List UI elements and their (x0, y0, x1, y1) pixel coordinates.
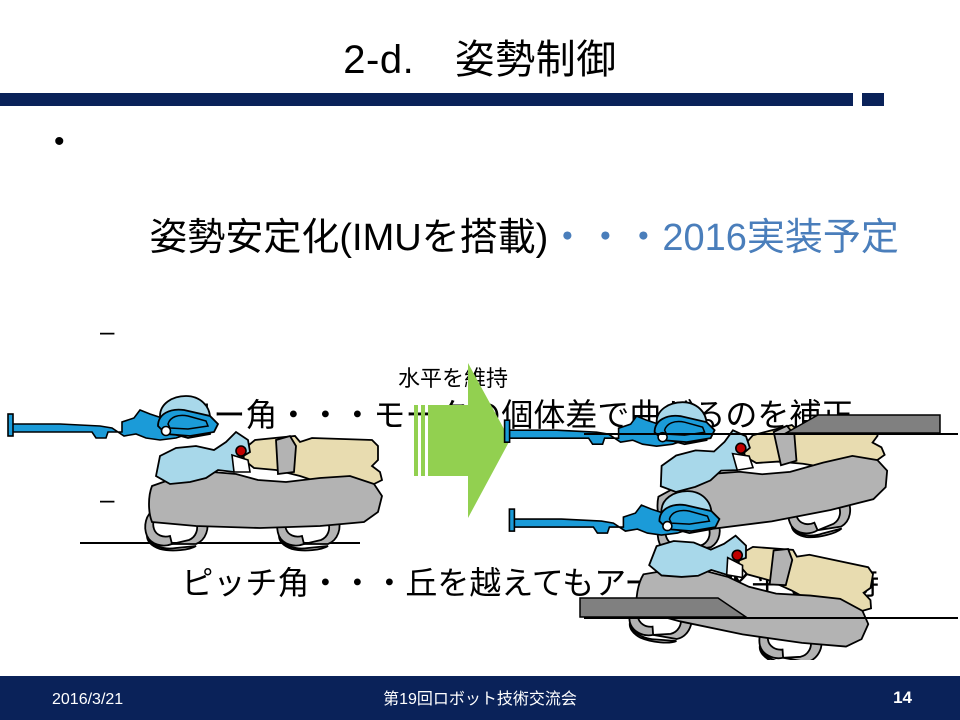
robot-midsection (276, 436, 296, 474)
footer-event-name: 第19回ロボット技術交流会 (0, 690, 960, 710)
robot-arm-group-leveled (509, 491, 719, 535)
footer-page-number: 14 (893, 688, 912, 708)
title-divider-bar (0, 93, 853, 106)
arm-tip (8, 414, 13, 436)
hill-ramp (786, 415, 940, 433)
imu-sensor-indicator (731, 549, 743, 561)
bullet-level1-text: 姿勢安定化(IMUを搭載) (149, 217, 548, 259)
imu-sensor-indicator (735, 443, 746, 454)
arm-pivot-joint (663, 522, 672, 531)
panel-flat-ground-robot (8, 396, 382, 550)
arm-tip (509, 509, 514, 531)
page-title: 2-d. 姿勢制御 (0, 34, 960, 86)
imu-sensor-indicator (236, 446, 246, 456)
title-divider-tick (862, 93, 884, 106)
bullet-level1: • 姿勢安定化(IMUを搭載)・・・2016実装予定 (38, 118, 938, 310)
hill-ramp (580, 598, 746, 617)
figure-illustrations (0, 300, 960, 660)
arm-tip (505, 420, 510, 442)
robot-arm-group-leveled (505, 402, 715, 446)
slide-canvas: 2-d. 姿勢制御 • 姿勢安定化(IMUを搭載)・・・2016実装予定 – ヨ… (0, 0, 960, 720)
arm-pivot-joint (162, 427, 171, 436)
bullet-level1-accent-text: ・・・2016実装予定 (548, 217, 899, 259)
bullet-dot-icon: • (54, 118, 65, 166)
transition-arrow (414, 363, 510, 518)
